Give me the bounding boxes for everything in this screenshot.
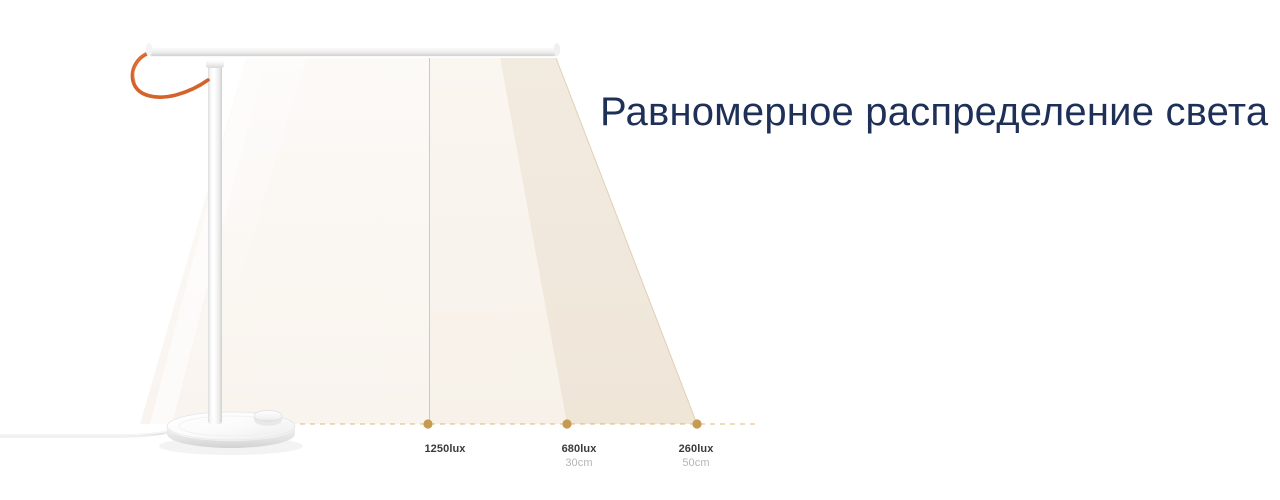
- measurement-label-3: 260lux 50cm: [679, 442, 714, 470]
- measurement-dot-3[interactable]: [692, 419, 701, 428]
- distance-value-3: 50cm: [679, 456, 714, 470]
- lamp-arm: [146, 43, 560, 56]
- orange-cable: [132, 52, 208, 97]
- arm-underglow: [150, 54, 556, 56]
- light-distribution-illustration: Равномерное распределение света 1250lux …: [0, 0, 1280, 500]
- lux-value-3: 260lux: [679, 442, 714, 456]
- scene-graphic: [0, 0, 1280, 500]
- measurement-dot-2[interactable]: [562, 419, 571, 428]
- arm-highlight: [153, 46, 553, 48]
- lux-value-1: 1250lux: [424, 442, 465, 456]
- measurement-label-1: 1250lux: [424, 442, 465, 456]
- post-collar: [206, 57, 224, 68]
- arm-end-cap-left: [146, 43, 152, 56]
- lux-value-2: 680lux: [562, 442, 597, 456]
- measurement-dot-1[interactable]: [423, 419, 432, 428]
- page-title: Равномерное распределение света: [600, 89, 1268, 135]
- arm-end-cap-right: [554, 43, 560, 56]
- distance-value-2: 30cm: [562, 456, 597, 470]
- lamp-post: [206, 57, 224, 424]
- arm-bar: [148, 43, 558, 56]
- measurement-label-2: 680lux 30cm: [562, 442, 597, 470]
- post-column: [208, 58, 222, 424]
- post-highlight: [212, 62, 215, 418]
- power-cord-highlight: [0, 431, 165, 435]
- orange-cable-group: [132, 51, 208, 97]
- lamp-base: [159, 411, 303, 456]
